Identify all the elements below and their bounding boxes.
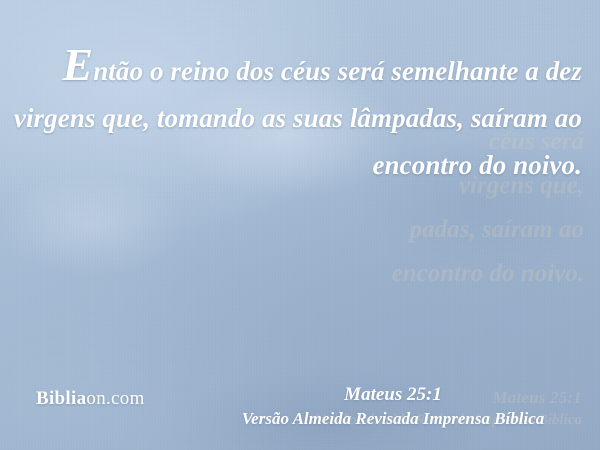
verse-text: Então o reino dos céus será semelhante a… (12, 48, 582, 189)
verse-reference: Mateus 25:1 (200, 384, 586, 406)
verse-card: céus será virgens que, padas, saíram ao … (0, 0, 600, 450)
verse-body: ntão o reino dos céus será semelhante a … (14, 56, 582, 180)
site-brand: Bibliaon.com (36, 388, 145, 410)
bible-version: Versão Almeida Revisada Imprensa Bíblica (200, 409, 586, 429)
site-brand-thin: on.com (86, 388, 144, 409)
site-brand-bold: Biblia (36, 388, 86, 409)
verse-drop-cap: E (62, 39, 93, 90)
